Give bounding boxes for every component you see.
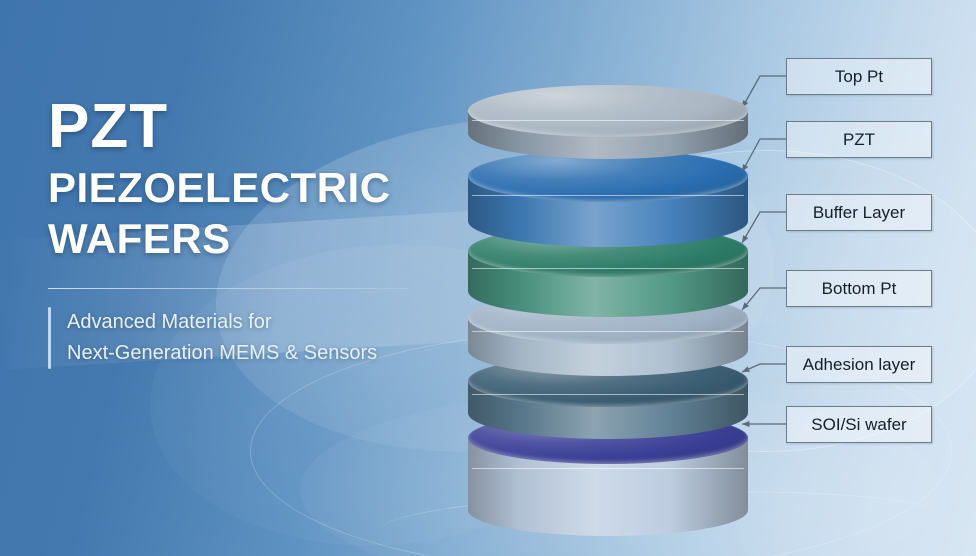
wafer-layer-rim-highlight [472, 268, 744, 269]
wafer-layer-top-pt[interactable] [468, 85, 748, 159]
wafer-layer-rim-highlight [472, 195, 744, 196]
wafer-layer-top-surface [468, 85, 748, 137]
callout-label-pzt[interactable]: PZT [786, 121, 932, 158]
leader-line-bottom-pt [742, 288, 786, 310]
wafer-layer-rim-highlight [472, 394, 744, 395]
leader-line-buffer-layer [742, 212, 786, 243]
callout-label-buffer-layer[interactable]: Buffer Layer [786, 194, 932, 231]
wafer-layer-rim-highlight [472, 120, 744, 121]
leader-line-pzt [742, 139, 786, 172]
callout-label-adhesion-layer[interactable]: Adhesion layer [786, 346, 932, 383]
callout-label-top-pt[interactable]: Top Pt [786, 58, 932, 95]
wafer-layer-rim-highlight [472, 468, 744, 469]
leader-line-top-pt [742, 76, 786, 108]
poster-canvas: PZT PIEZOELECTRIC WAFERS Advanced Materi… [0, 0, 976, 556]
wafer-layer-rim-highlight [472, 331, 744, 332]
wafer-layer-pzt[interactable] [468, 150, 748, 247]
callout-label-soi-si-wafer[interactable]: SOI/Si wafer [786, 406, 932, 443]
callout-label-bottom-pt[interactable]: Bottom Pt [786, 270, 932, 307]
